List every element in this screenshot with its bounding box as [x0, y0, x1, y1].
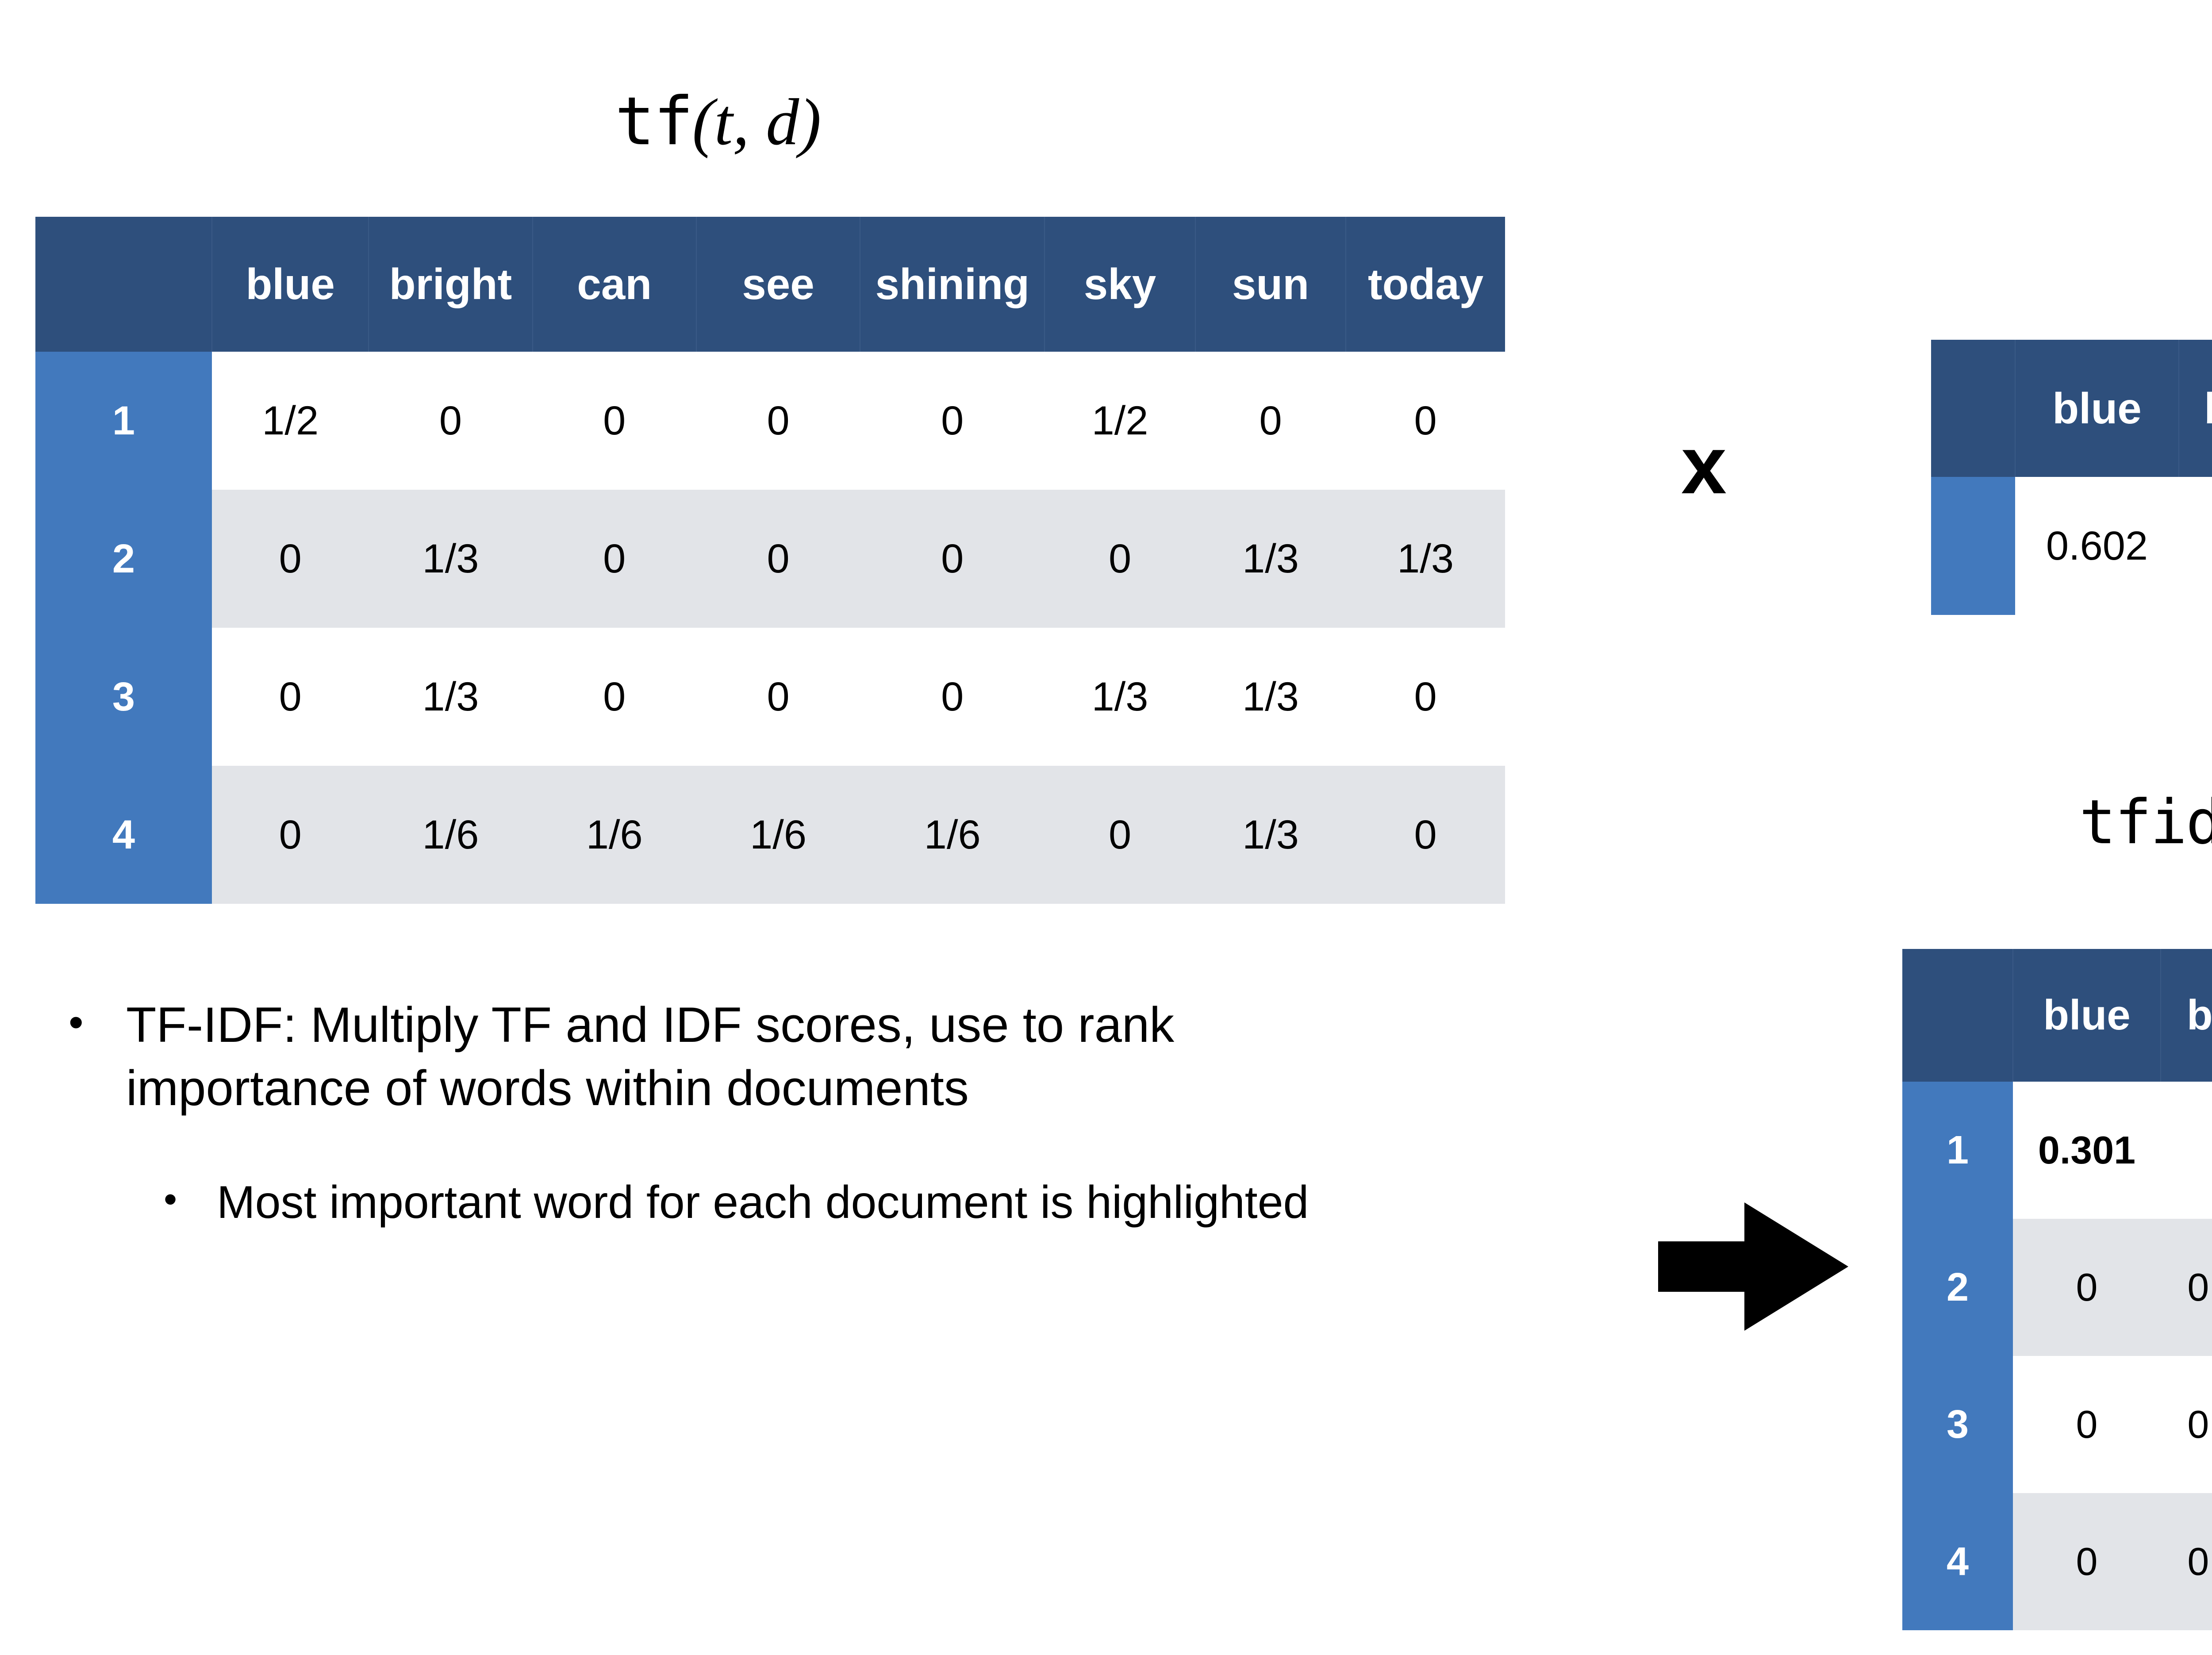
tf-cell-r3-bright: 1/3: [369, 628, 532, 766]
tf-col-header-blue: blue: [212, 217, 369, 352]
table-row: 0.602 0.125 0.602 0.602 0.602 0.301 0.12…: [1931, 477, 2212, 615]
tf-col-header-can: can: [533, 217, 696, 352]
tf-cell-r2-today: 1/3: [1346, 490, 1505, 628]
tf-title-function: tf: [615, 83, 692, 160]
tf-cell-r2-sun: 1/3: [1195, 490, 1346, 628]
tf-row-label-3: 3: [35, 628, 212, 766]
tf-cell-r3-can: 0: [533, 628, 696, 766]
bullet-marker-icon: •: [69, 993, 126, 1044]
tfidf-col-header-blue: blue: [2013, 949, 2161, 1082]
tfidf-cell-r3-blue: 0: [2013, 1356, 2161, 1493]
tfidf-cell-r2-bright: 0.0417: [2161, 1219, 2212, 1356]
right-arrow-icon: [1658, 1202, 1848, 1331]
table-row: 3 0 1/3 0 0 0 1/3 1/3 0: [35, 628, 1505, 766]
tfidf-cell-r2-blue: 0: [2013, 1219, 2161, 1356]
idf-header-corner: [1931, 340, 2015, 477]
tf-row-label-4: 4: [35, 766, 212, 904]
tf-cell-r4-shining: 1/6: [860, 766, 1045, 904]
tf-col-header-see: see: [696, 217, 860, 352]
tf-col-header-today: today: [1346, 217, 1505, 352]
bullet-list: • TF-IDF: Multiply TF and IDF scores, us…: [69, 993, 1573, 1232]
table-row: 2 0 1/3 0 0 0 0 1/3 1/3: [35, 490, 1505, 628]
tf-cell-r4-today: 0: [1346, 766, 1505, 904]
tf-cell-r2-can: 0: [533, 490, 696, 628]
tf-table-title: tf(t, d): [615, 88, 821, 155]
table-row: 1 1/2 0 0 0 0 1/2 0 0: [35, 352, 1505, 490]
tf-cell-r3-see: 0: [696, 628, 860, 766]
tf-table-header: blue bright can see shining sky sun toda…: [35, 217, 1505, 352]
bullet-text-primary: TF-IDF: Multiply TF and IDF scores, use …: [126, 993, 1409, 1120]
tf-cell-r4-bright: 1/6: [369, 766, 532, 904]
tfidf-table-title: tfidf(t, d, D) = tf(t, d) · idf(t, D): [2079, 792, 2212, 853]
tf-cell-r4-sun: 1/3: [1195, 766, 1346, 904]
table-row: 4 0 0.0209 0.100 0.100 0.100 0 0.0417 0: [1902, 1493, 2212, 1630]
idf-table-header: blue bright can see shining sky sun toda…: [1931, 340, 2212, 477]
tfidf-header-corner: [1902, 949, 2013, 1082]
list-item: • Most important word for each document …: [69, 1173, 1573, 1232]
tf-cell-r1-bright: 0: [369, 352, 532, 490]
tf-header-corner: [35, 217, 212, 352]
table-row: 2 0 0.0417 0 0 0 0 0.0417 0.201: [1902, 1219, 2212, 1356]
multiply-icon: x: [1681, 425, 1727, 507]
tf-cell-r4-see: 1/6: [696, 766, 860, 904]
tfidf-row-label-3: 3: [1902, 1356, 2013, 1493]
tf-col-header-sky: sky: [1045, 217, 1195, 352]
tf-cell-r3-blue: 0: [212, 628, 369, 766]
idf-cell-blue: 0.602: [2015, 477, 2179, 615]
tf-cell-r1-can: 0: [533, 352, 696, 490]
tf-cell-r1-today: 0: [1346, 352, 1505, 490]
tfidf-cell-r4-blue: 0: [2013, 1493, 2161, 1630]
tf-table-body: 1 1/2 0 0 0 0 1/2 0 0 2 0 1/3 0 0 0 0 1/…: [35, 352, 1505, 904]
tf-cell-r2-see: 0: [696, 490, 860, 628]
tf-cell-r2-sky: 0: [1045, 490, 1195, 628]
bullet-marker-icon: •: [164, 1173, 217, 1218]
tf-row-label-1: 1: [35, 352, 212, 490]
tfidf-cell-r1-blue: 0.301: [2013, 1082, 2161, 1219]
tf-cell-r2-blue: 0: [212, 490, 369, 628]
tf-cell-r1-shining: 0: [860, 352, 1045, 490]
tfidf-cell-r1-bright: 0: [2161, 1082, 2212, 1219]
tfidf-table: blue bright can see shining sky sun toda…: [1902, 949, 2212, 1630]
tf-cell-r3-sky: 1/3: [1045, 628, 1195, 766]
idf-col-header-bright: bright: [2179, 340, 2212, 477]
tf-cell-r1-sky: 1/2: [1045, 352, 1195, 490]
idf-row-label-1: [1931, 477, 2015, 615]
tf-col-header-sun: sun: [1195, 217, 1346, 352]
bullet-text-secondary: Most important word for each document is…: [217, 1173, 1314, 1232]
tf-cell-r1-see: 0: [696, 352, 860, 490]
idf-col-header-blue: blue: [2015, 340, 2179, 477]
tf-cell-r3-sun: 1/3: [1195, 628, 1346, 766]
table-row: 1 0.301 0 0 0 0 0.151 0 0: [1902, 1082, 2212, 1219]
tfidf-cell-r3-bright: 0.0417: [2161, 1356, 2212, 1493]
tf-table: blue bright can see shining sky sun toda…: [35, 217, 1505, 904]
tf-cell-r1-sun: 0: [1195, 352, 1346, 490]
tf-cell-r4-blue: 0: [212, 766, 369, 904]
tfidf-header-row: blue bright can see shining sky sun toda…: [1902, 949, 2212, 1082]
idf-header-row: blue bright can see shining sky sun toda…: [1931, 340, 2212, 477]
tfidf-table-header: blue bright can see shining sky sun toda…: [1902, 949, 2212, 1082]
tf-cell-r2-bright: 1/3: [369, 490, 532, 628]
tfidf-cell-r4-bright: 0.0209: [2161, 1493, 2212, 1630]
tf-header-row: blue bright can see shining sky sun toda…: [35, 217, 1505, 352]
table-row: 3 0 0.0417 0 0 0 0.100 0.0417 0: [1902, 1356, 2212, 1493]
tfidf-row-label-1: 1: [1902, 1082, 2013, 1219]
tf-cell-r4-sky: 0: [1045, 766, 1195, 904]
idf-cell-bright: 0.125: [2179, 477, 2212, 615]
tf-cell-r3-shining: 0: [860, 628, 1045, 766]
tf-col-header-shining: shining: [860, 217, 1045, 352]
tfidf-col-header-bright: bright: [2161, 949, 2212, 1082]
idf-table-body: 0.602 0.125 0.602 0.602 0.602 0.301 0.12…: [1931, 477, 2212, 615]
tf-row-label-2: 2: [35, 490, 212, 628]
tf-col-header-bright: bright: [369, 217, 532, 352]
tfidf-row-label-4: 4: [1902, 1493, 2013, 1630]
tfidf-title-fn1: tfidf: [2079, 787, 2212, 858]
table-row: 4 0 1/6 1/6 1/6 1/6 0 1/3 0: [35, 766, 1505, 904]
tfidf-table-body: 1 0.301 0 0 0 0 0.151 0 0 2 0 0.0417 0 0…: [1902, 1082, 2212, 1630]
tf-title-args: (t, d): [692, 85, 822, 159]
tf-cell-r4-can: 1/6: [533, 766, 696, 904]
list-item: • TF-IDF: Multiply TF and IDF scores, us…: [69, 993, 1573, 1120]
tfidf-row-label-2: 2: [1902, 1219, 2013, 1356]
tf-cell-r1-blue: 1/2: [212, 352, 369, 490]
tf-cell-r2-shining: 0: [860, 490, 1045, 628]
tf-cell-r3-today: 0: [1346, 628, 1505, 766]
idf-table: blue bright can see shining sky sun toda…: [1931, 340, 2212, 615]
